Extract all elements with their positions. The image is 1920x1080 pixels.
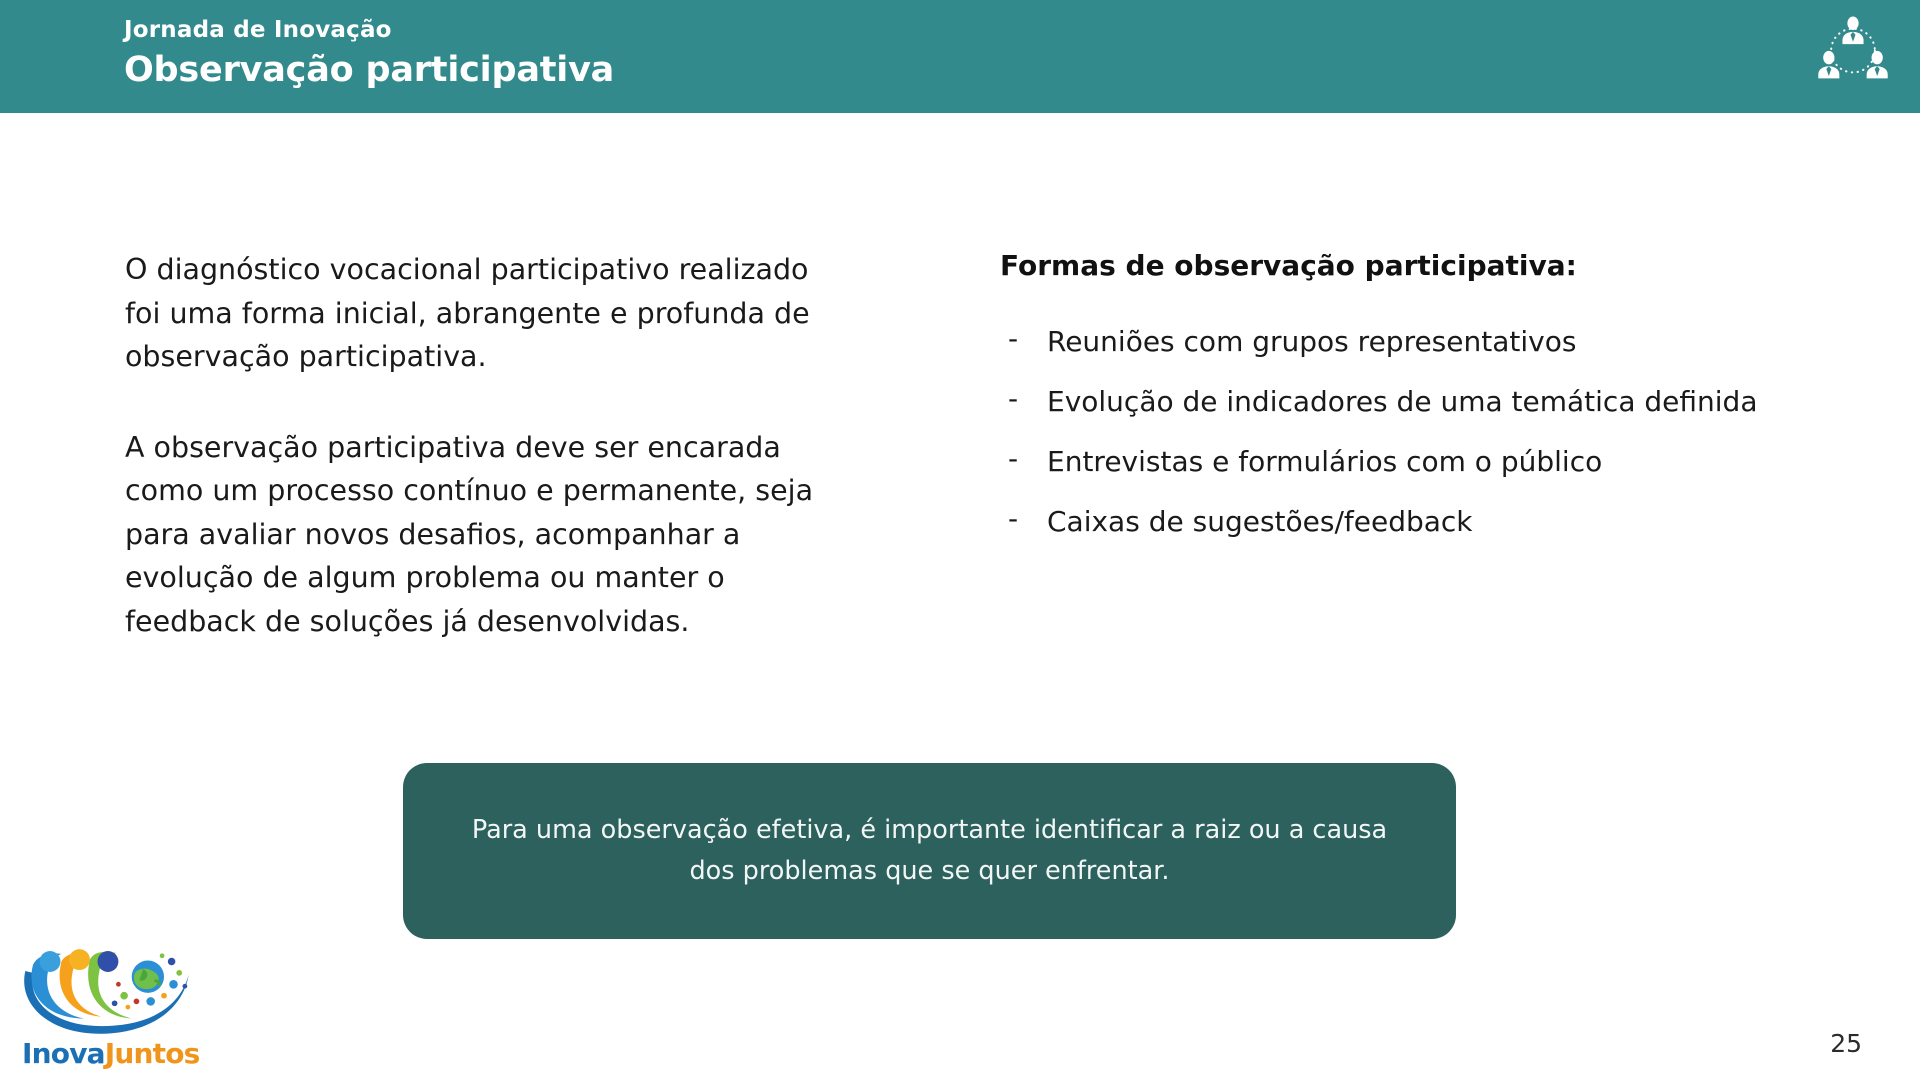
- bullet-dash-icon: -: [1008, 319, 1018, 359]
- list-item: - Entrevistas e formulários com o públic…: [1000, 442, 1760, 482]
- list-item-label: Caixas de sugestões/feedback: [1047, 505, 1473, 538]
- list-item: - Evolução de indicadores de uma temátic…: [1000, 382, 1760, 422]
- logo-word-juntos: Juntos: [105, 1037, 200, 1070]
- paragraph-1: O diagnóstico vocacional participativo r…: [125, 248, 845, 379]
- right-column-heading: Formas de observação participativa:: [1000, 248, 1760, 284]
- page-number: 25: [1830, 1029, 1862, 1058]
- slide-header-band: Jornada de Inovação Observação participa…: [0, 0, 1920, 113]
- list-item: - Caixas de sugestões/feedback: [1000, 502, 1760, 542]
- paragraph-2: A observação participativa deve ser enca…: [125, 426, 845, 644]
- left-text-column: O diagnóstico vocacional participativo r…: [125, 248, 845, 643]
- list-item-label: Entrevistas e formulários com o público: [1047, 445, 1602, 478]
- list-item-label: Reuniões com grupos representativos: [1047, 325, 1576, 358]
- people-network-icon: [1814, 10, 1892, 88]
- logo-wordmark: InovaJuntos: [22, 1037, 200, 1070]
- list-item: - Reuniões com grupos representativos: [1000, 322, 1760, 362]
- inovajuntos-logo: InovaJuntos: [12, 942, 202, 1072]
- callout-box: Para uma observação efetiva, é important…: [403, 763, 1456, 939]
- bullet-dash-icon: -: [1008, 379, 1018, 419]
- bullet-dash-icon: -: [1008, 439, 1018, 479]
- right-text-column: Formas de observação participativa: - Re…: [1000, 248, 1760, 542]
- header-eyebrow: Jornada de Inovação: [124, 17, 392, 43]
- inovajuntos-logo-mark: [12, 942, 202, 1038]
- list-item-label: Evolução de indicadores de uma temática …: [1047, 385, 1757, 418]
- page-title: Observação participativa: [124, 50, 614, 90]
- bullet-dash-icon: -: [1008, 499, 1018, 539]
- logo-word-inova: Inova: [22, 1037, 105, 1070]
- callout-text: Para uma observação efetiva, é important…: [463, 810, 1396, 892]
- observation-forms-list: - Reuniões com grupos representativos - …: [1000, 322, 1760, 542]
